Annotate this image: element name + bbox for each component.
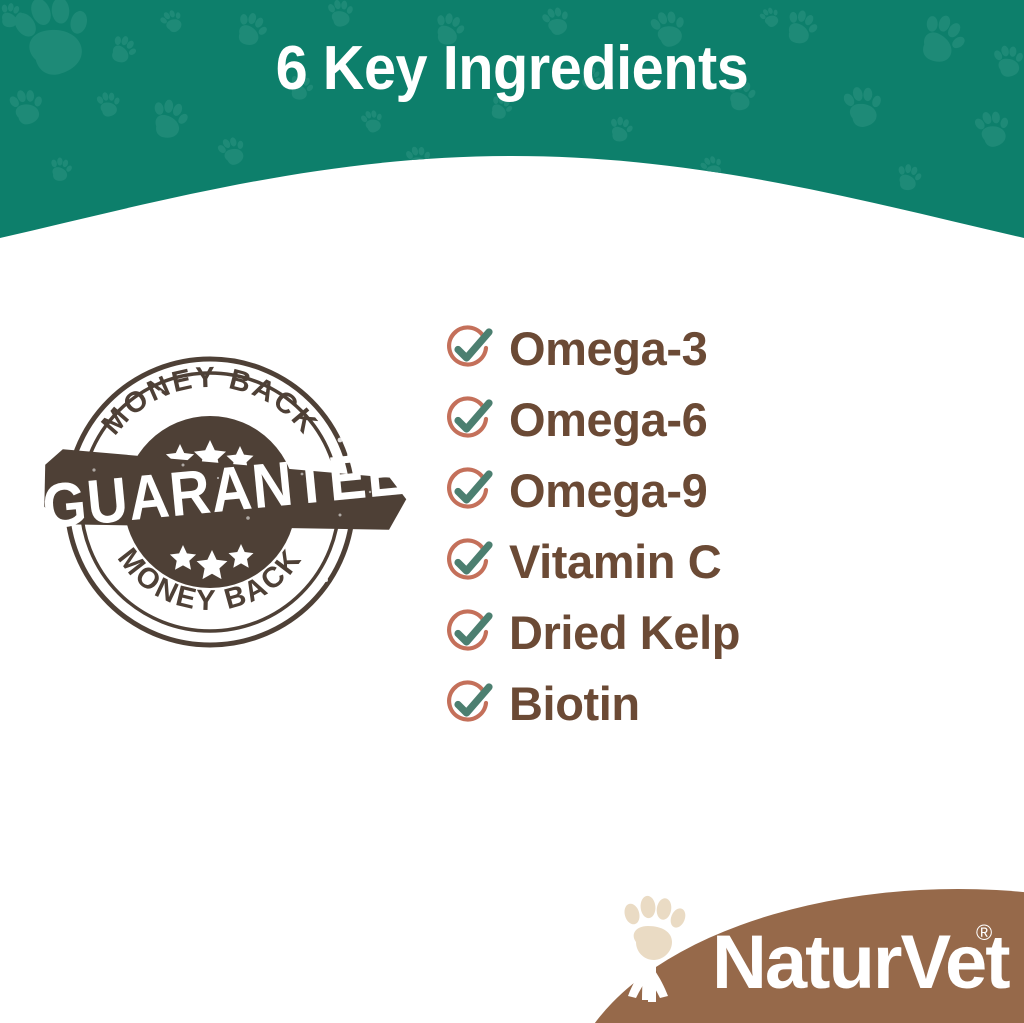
list-item[interactable]: Dried Kelp (443, 597, 863, 668)
list-item[interactable]: Biotin (443, 668, 863, 739)
list-item[interactable]: Vitamin C (443, 526, 863, 597)
infographic-page: 6 Key Ingredients MONEY BACK (0, 0, 1024, 1023)
brand-footer: NaturVet ® (560, 868, 1024, 1023)
ingredient-label: Biotin (509, 680, 640, 727)
list-item[interactable]: Omega-9 (443, 455, 863, 526)
check-circle-icon (443, 536, 495, 588)
ingredient-label: Omega-3 (509, 325, 707, 372)
ingredient-label: Vitamin C (509, 538, 721, 585)
trademark-symbol: ® (976, 920, 992, 945)
ingredient-label: Omega-6 (509, 396, 707, 443)
check-circle-icon (443, 394, 495, 446)
list-item[interactable]: Omega-6 (443, 384, 863, 455)
brand-wordmark: NaturVet (712, 920, 1010, 1005)
money-back-guarantee-stamp: MONEY BACK MONEY BACK (40, 352, 410, 652)
check-circle-icon (443, 678, 495, 730)
ingredient-list: Omega-3 Omega-6 Omega-9 Vitamin C (443, 313, 863, 739)
check-circle-icon (443, 465, 495, 517)
page-title: 6 Key Ingredients (36, 38, 988, 100)
ingredient-label: Omega-9 (509, 467, 707, 514)
check-circle-icon (443, 323, 495, 375)
check-circle-icon (443, 607, 495, 659)
ingredient-label: Dried Kelp (509, 609, 740, 656)
header-banner: 6 Key Ingredients (0, 0, 1024, 240)
list-item[interactable]: Omega-3 (443, 313, 863, 384)
